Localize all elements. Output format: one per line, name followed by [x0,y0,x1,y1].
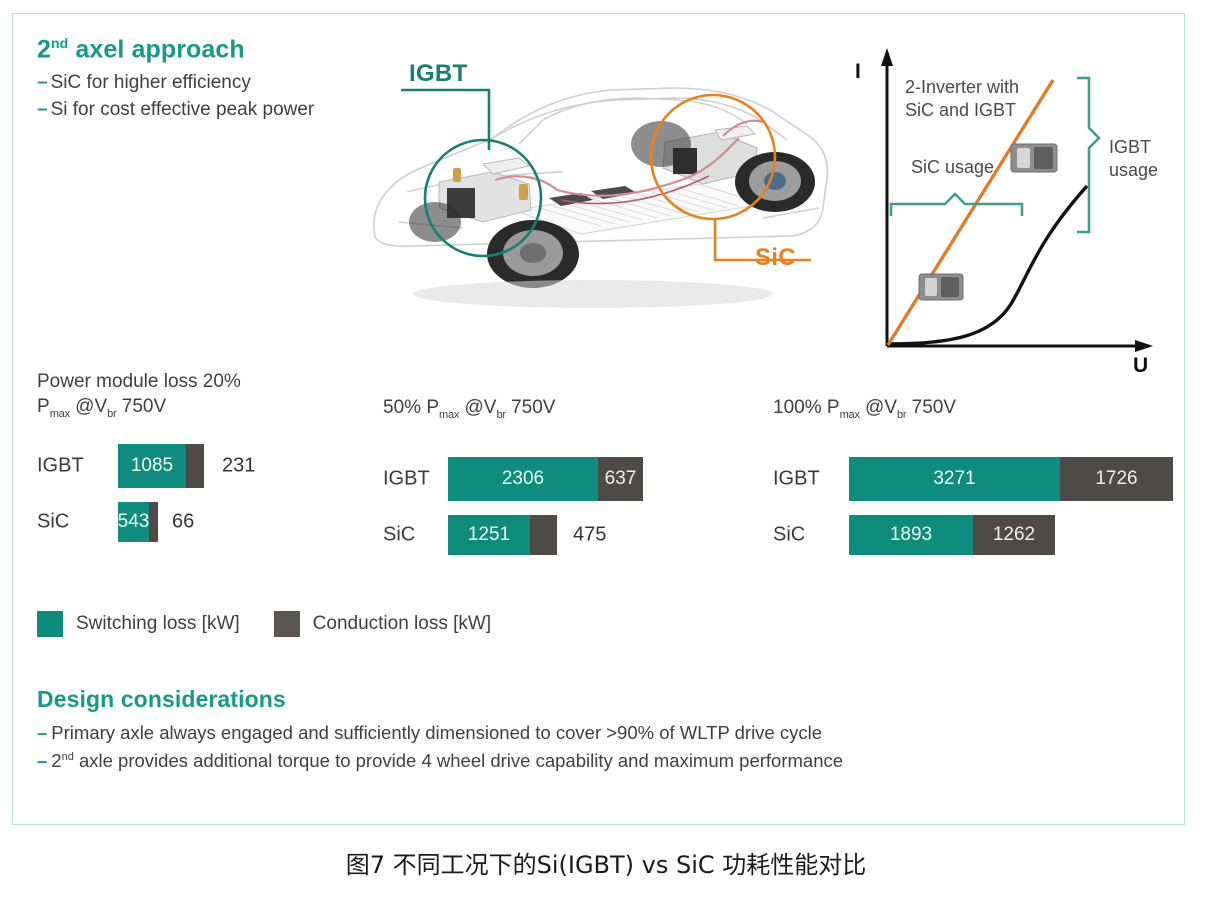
bar-stack: 2306 637 [448,457,643,501]
bar-group-2: 50% Pmax @Vbr 750V IGBT 2306 637 SiC 125… [383,395,703,569]
voltage-tail: 750V [906,397,956,418]
power-module-icon-upper [1011,144,1057,172]
bar-group-1-rows: IGBT 1085 231 SiC 543 66 [37,444,337,542]
bar-value-outside: 475 [573,523,606,546]
design-consideration-text: axle provides additional torque to provi… [79,750,843,771]
bar-row-sic: SiC 1251 475 [383,515,703,555]
header-bullet-label: SiC for higher efficiency [51,72,251,93]
bar-row-label: IGBT [773,467,820,490]
pmax-sub: max [50,408,70,420]
header-bullet-label: Si for cost effective peak power [51,99,315,120]
legend-label: Switching loss [kW] [76,613,240,635]
y-axis-arrow [881,48,893,66]
bar-value-outside: 66 [172,510,194,533]
x-axis-arrow [1135,340,1153,352]
bar-segment-switching: 3271 [849,457,1060,501]
slide-panel: 2nd axel approach –SiC for higher effici… [12,13,1185,825]
igbt-usage-label-line2: usage [1109,159,1158,182]
header-bullet: –Si for cost effective peak power [37,97,377,124]
bar-segment-conduction: 1262 [973,515,1055,555]
bar-row-sic: SiC 543 66 [37,502,337,542]
pmax-p: P [426,397,439,418]
bar-row-label: SiC [773,523,805,546]
bar-segment-conduction: 1726 [1060,457,1173,501]
bar-segment-conduction [186,444,204,488]
bar-segment-switching: 543 [118,502,149,542]
sic-usage-bracket [891,194,1022,216]
bar-row-label: IGBT [383,467,430,490]
group3-percent: 100% [773,397,827,418]
igbt-curve [889,186,1087,344]
legend-label: Conduction loss [kW] [313,613,491,635]
bar-group-1-title-line1: Power module loss 20% [37,369,337,394]
bar-segment-switching: 1251 [448,515,530,555]
bar-group-3-rows: IGBT 3271 1726 SiC 1893 1262 [773,457,1183,555]
legend-swatch-conduction-icon [274,611,300,637]
power-module-icon-lower [919,274,963,300]
vehicle-illustration: IGBT SiC [343,32,843,322]
figure-caption: 图7 不同工况下的Si(IGBT) vs SiC 功耗性能对比 [0,845,1212,880]
legend-item-conduction: Conduction loss [kW] [274,611,491,637]
bar-segment-conduction: 637 [598,457,643,501]
bar-row-igbt: IGBT 3271 1726 [773,457,1183,501]
design-considerations-block: Design considerations –Primary axle alwa… [37,686,1137,775]
bar-group-1: Power module loss 20% Pmax @Vbr 750V IGB… [37,369,337,556]
design-consideration-ordinal: nd [62,751,74,763]
vbr-sub: br [107,408,116,420]
design-consideration-item: –2nd axle provides additional torque to … [37,747,1137,775]
bar-row-label: SiC [383,523,415,546]
bullet-dash-icon: – [37,722,47,743]
legend-item-switching: Switching loss [kW] [37,611,240,637]
pmax-p: P [37,396,50,417]
bar-row-label: SiC [37,510,69,533]
chart-annotation: 2-Inverter with SiC and IGBT [905,76,1019,121]
bar-segment-switching: 1085 [118,444,186,488]
design-considerations-heading: Design considerations [37,686,1137,713]
sic-callout-label: SiC [755,244,796,272]
bar-row-label: IGBT [37,454,84,477]
design-consideration-text: Primary axle always engaged and sufficie… [51,722,822,743]
voltage-tail: 750V [506,397,556,418]
pmax-sub: max [840,409,860,421]
chart-annotation-line2: SiC and IGBT [905,99,1019,122]
bar-stack: 1893 1262 [849,515,1055,555]
vbr-mid: @V [860,397,897,418]
vbr-mid: @V [459,397,496,418]
bar-group-2-rows: IGBT 2306 637 SiC 1251 475 [383,457,703,555]
bar-segment-switching: 2306 [448,457,598,501]
vbr-sub: br [496,409,505,421]
bullet-dash-icon: – [37,72,48,93]
group2-percent: 50% [383,397,426,418]
bar-segment-conduction [149,502,158,542]
bar-group-2-title: 50% Pmax @Vbr 750V [383,395,703,423]
bar-row-sic: SiC 1893 1262 [773,515,1183,555]
bar-segment-conduction [530,515,557,555]
bar-stack: 3271 1726 [849,457,1173,501]
bar-group-3: 100% Pmax @Vbr 750V IGBT 3271 1726 SiC 1… [773,395,1183,569]
bar-group-3-title: 100% Pmax @Vbr 750V [773,395,1183,423]
bar-group-1-title-line2: Pmax @Vbr 750V [37,394,337,422]
chart-annotation-line1: 2-Inverter with [905,76,1019,99]
bullet-dash-icon: – [37,99,48,120]
page-title-text: axel approach [75,35,244,63]
bar-stack: 543 [118,502,158,542]
voltage-tail: 750V [117,396,167,417]
igbt-callout-label: IGBT [409,60,468,88]
x-axis-label: U [1133,354,1148,378]
header-block: 2nd axel approach –SiC for higher effici… [37,36,377,124]
chart-legend: Switching loss [kW] Conduction loss [kW] [37,611,525,637]
page-title: 2nd axel approach [37,36,377,64]
pmax-p: P [827,397,840,418]
bullet-dash-icon: – [37,750,47,771]
header-bullet: –SiC for higher efficiency [37,70,377,97]
bar-row-igbt: IGBT 1085 231 [37,444,337,488]
bar-row-igbt: IGBT 2306 637 [383,457,703,501]
page-title-ordinal: nd [51,35,68,51]
vbr-mid: @V [70,396,107,417]
pmax-sub: max [439,409,459,421]
sic-usage-label: SiC usage [911,156,994,179]
bar-stack: 1251 [448,515,557,555]
bar-stack: 1085 [118,444,204,488]
page-title-number: 2 [37,35,51,63]
bar-value-outside: 231 [222,454,255,477]
y-axis-label: I [855,60,861,84]
legend-swatch-switching-icon [37,611,63,637]
design-consideration-prefix: 2 [51,750,61,771]
vbr-sub: br [897,409,906,421]
iu-characteristic-chart: I U 2-Inverter with SiC and IGBT SiC usa… [841,36,1181,386]
igbt-usage-label: IGBT usage [1109,136,1158,181]
igbt-usage-bracket [1077,78,1099,232]
igbt-usage-label-line1: IGBT [1109,136,1158,159]
bar-segment-switching: 1893 [849,515,973,555]
design-consideration-item: –Primary axle always engaged and suffici… [37,719,1137,747]
